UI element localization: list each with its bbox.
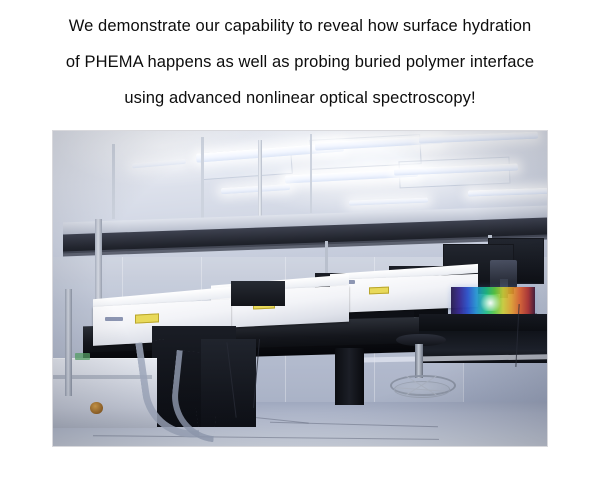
headline-text-block: We demonstrate our capability to reveal …: [0, 0, 600, 116]
ceiling-hanger-rod: [201, 137, 203, 219]
ceiling-hanger-rod: [112, 144, 114, 220]
headline-line-1: We demonstrate our capability to reveal …: [0, 8, 600, 44]
laser-laboratory-photo: [52, 130, 548, 447]
headline-line-2: of PHEMA happens as well as probing buri…: [0, 44, 600, 80]
optical-instrument: [231, 281, 285, 306]
right-bench-top: [419, 314, 547, 333]
lab-stool-post: [415, 344, 422, 379]
laser-brand-mark: [105, 317, 123, 321]
optical-table-leg: [335, 348, 365, 405]
vertical-pipe: [65, 289, 72, 396]
laser-warning-label: [369, 287, 389, 295]
photo-scene: [53, 131, 547, 446]
ceiling-hanger-rod: [310, 134, 312, 213]
headline-line-3: using advanced nonlinear optical spectro…: [0, 80, 600, 116]
laser-warning-label: [135, 314, 159, 324]
spectrum-highlight: [478, 295, 503, 311]
green-tag: [75, 353, 90, 360]
